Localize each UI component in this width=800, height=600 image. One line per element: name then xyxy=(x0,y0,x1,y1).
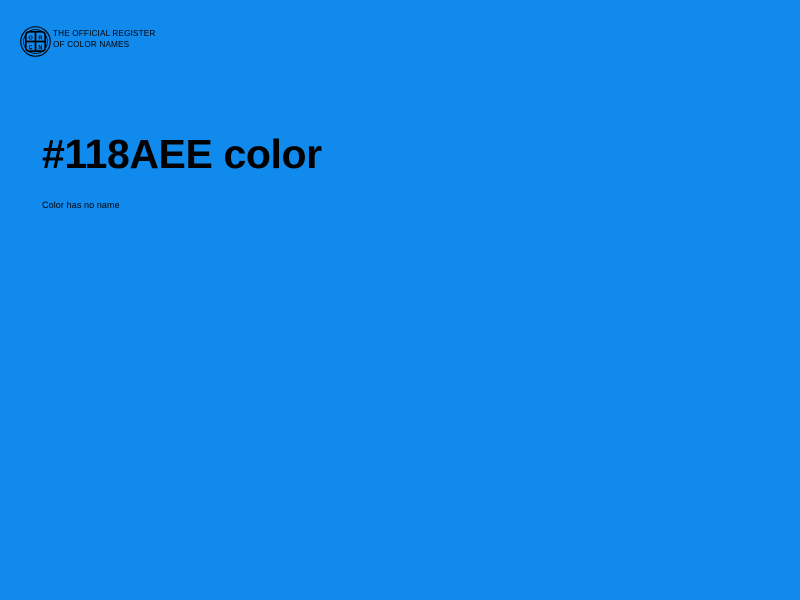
color-swatch-area xyxy=(0,230,800,600)
svg-text:R: R xyxy=(38,36,42,42)
brand-lockup[interactable]: O R C N REGISTER THE OFFICIAL REGISTER O… xyxy=(20,26,155,57)
page-title: #118AEE color xyxy=(42,130,322,178)
color-name-status: Color has no name xyxy=(42,199,120,211)
brand-wordmark: THE OFFICIAL REGISTER OF COLOR NAMES xyxy=(53,26,155,50)
svg-text:O: O xyxy=(28,36,33,42)
brand-line-2: OF COLOR NAMES xyxy=(53,40,155,51)
brand-line-1: THE OFFICIAL REGISTER xyxy=(53,29,155,40)
color-page: O R C N REGISTER THE OFFICIAL REGISTER O… xyxy=(0,0,800,600)
register-seal-icon: O R C N REGISTER xyxy=(20,26,51,57)
